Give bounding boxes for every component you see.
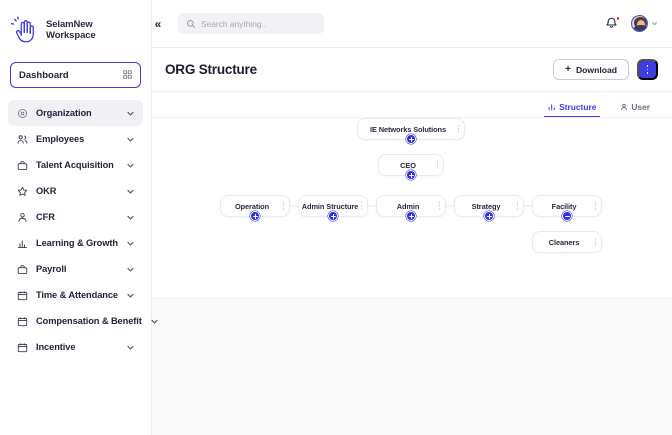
sidebar-label-payroll: Payroll <box>36 264 118 274</box>
chevron-down-icon[interactable] <box>126 109 135 118</box>
download-button-label: Download <box>576 65 617 75</box>
main-area: « <box>152 0 672 435</box>
org-node-ceo[interactable]: CEO <box>378 154 444 176</box>
chevron-down-icon[interactable] <box>651 20 658 27</box>
org-node-expand-badge[interactable] <box>406 170 416 180</box>
bell-icon[interactable] <box>605 16 620 31</box>
briefcase-icon <box>16 159 28 171</box>
org-node-label: CEO <box>392 161 430 170</box>
download-button[interactable]: + Download <box>553 59 629 80</box>
org-chart-canvas[interactable]: IE Networks Solutions CEO Operation <box>152 118 672 298</box>
tab-bar: Structure User <box>152 92 672 118</box>
plus-icon: + <box>565 65 571 75</box>
sidebar-item-payroll[interactable]: Payroll <box>8 256 143 282</box>
dots-vertical-icon[interactable] <box>517 202 518 209</box>
org-node-expand-badge[interactable] <box>406 134 416 144</box>
page-header: ORG Structure + Download <box>152 48 672 92</box>
sidebar-label-okr: OKR <box>36 186 118 196</box>
sidebar-item-employees[interactable]: Employees <box>8 126 143 152</box>
tab-user[interactable]: User <box>616 102 654 117</box>
dots-vertical-icon[interactable] <box>361 202 362 209</box>
plus-icon <box>409 214 414 219</box>
sidebar-label-employees: Employees <box>36 134 118 144</box>
search-icon <box>186 19 196 29</box>
sidebar-item-cfr[interactable]: CFR <box>8 204 143 230</box>
calendar-icon <box>16 315 28 327</box>
dots-vertical-icon[interactable] <box>595 238 596 245</box>
plus-icon <box>487 214 492 219</box>
page-background <box>152 298 672 435</box>
minus-icon <box>565 214 570 219</box>
sidebar-item-dashboard[interactable]: Dashboard <box>10 62 141 88</box>
org-node-root[interactable]: IE Networks Solutions <box>357 118 465 140</box>
plus-icon <box>331 214 336 219</box>
search-input[interactable] <box>201 19 316 29</box>
search-box[interactable] <box>178 13 324 34</box>
tab-structure-label: Structure <box>559 102 596 112</box>
briefcase-icon <box>16 263 28 275</box>
sidebar-item-incentive[interactable]: Incentive <box>8 334 143 360</box>
dashboard-label: Dashboard <box>19 70 69 81</box>
sidebar-label-learning-growth: Learning & Growth <box>36 238 118 248</box>
chevron-down-icon[interactable] <box>126 135 135 144</box>
chevron-down-icon[interactable] <box>126 265 135 274</box>
grid-dashboard-icon <box>123 66 132 84</box>
dots-vertical-icon[interactable] <box>283 202 284 209</box>
sidebar-label-talent-acquisition: Talent Acquisition <box>36 160 118 170</box>
sidebar-item-organization[interactable]: Organization <box>8 100 143 126</box>
sidebar-item-time-attendance[interactable]: Time & Attendance <box>8 282 143 308</box>
org-node-admin-structure[interactable]: Admin Structure <box>298 195 368 217</box>
sidebar-label-cfr: CFR <box>36 212 118 222</box>
bar-chart-icon <box>16 237 28 249</box>
chevron-down-icon[interactable] <box>126 343 135 352</box>
dots-vertical-icon[interactable] <box>595 202 596 209</box>
person-icon <box>620 103 628 111</box>
globe-icon <box>16 107 28 119</box>
org-node-label: Admin <box>389 202 434 211</box>
notification-dot <box>616 16 621 21</box>
avatar[interactable] <box>631 15 648 32</box>
dots-vertical-icon[interactable] <box>437 161 438 168</box>
org-node-collapse-badge[interactable] <box>562 211 572 221</box>
dots-vertical-icon[interactable] <box>439 202 440 209</box>
sidebar-nav: Organization Employees <box>0 100 151 360</box>
sidebar-item-learning-growth[interactable]: Learning & Growth <box>8 230 143 256</box>
brand-name-line1: SelamNew <box>46 19 93 30</box>
org-node-admin[interactable]: Admin <box>376 195 446 217</box>
app-root: SelamNew Workspace Dashboard Organizatio… <box>0 0 672 435</box>
dots-vertical-icon <box>647 65 649 74</box>
person-icon <box>16 211 28 223</box>
tab-structure[interactable]: Structure <box>544 102 600 117</box>
sidebar-label-compensation-benefit: Compensation & Benefit <box>36 316 142 326</box>
chevron-down-icon[interactable] <box>150 317 159 326</box>
org-node-expand-badge[interactable] <box>250 211 260 221</box>
org-node-label: Strategy <box>464 202 515 211</box>
chevron-down-icon[interactable] <box>126 239 135 248</box>
topbar: « <box>152 0 672 48</box>
org-node-facility[interactable]: Facility <box>532 195 602 217</box>
chevron-down-icon[interactable] <box>126 187 135 196</box>
org-node-expand-badge[interactable] <box>328 211 338 221</box>
brand-logo-block[interactable]: SelamNew Workspace <box>0 0 151 58</box>
chevron-down-icon[interactable] <box>126 161 135 170</box>
org-node-expand-badge[interactable] <box>484 211 494 221</box>
sidebar-label-organization: Organization <box>36 108 118 118</box>
org-node-label: IE Networks Solutions <box>362 125 460 134</box>
brand-name-line2: Workspace <box>46 30 96 41</box>
page-title: ORG Structure <box>165 62 257 77</box>
org-node-operation[interactable]: Operation <box>220 195 290 217</box>
dots-vertical-icon[interactable] <box>458 125 459 132</box>
sidebar: SelamNew Workspace Dashboard Organizatio… <box>0 0 152 435</box>
org-node-label: Operation <box>227 202 283 211</box>
calendar-icon <box>16 341 28 353</box>
org-node-expand-badge[interactable] <box>406 211 416 221</box>
chevron-down-icon[interactable] <box>126 291 135 300</box>
sidebar-label-incentive: Incentive <box>36 342 118 352</box>
tab-user-label: User <box>631 102 650 112</box>
more-options-button[interactable] <box>637 59 658 80</box>
sidebar-label-time-attendance: Time & Attendance <box>36 290 118 300</box>
plus-icon <box>409 173 414 178</box>
sidebar-item-okr[interactable]: OKR <box>8 178 143 204</box>
star-icon <box>16 185 28 197</box>
account-menu[interactable] <box>631 15 658 32</box>
plus-icon <box>253 214 258 219</box>
chevron-double-left-icon[interactable]: « <box>146 17 170 31</box>
org-node-label: Facility <box>544 202 591 211</box>
users-icon <box>16 133 28 145</box>
org-node-strategy[interactable]: Strategy <box>454 195 524 217</box>
sidebar-item-compensation-benefit[interactable]: Compensation & Benefit <box>8 308 143 334</box>
org-node-label: Cleaners <box>541 238 593 247</box>
chevron-down-icon[interactable] <box>126 213 135 222</box>
calendar-icon <box>16 289 28 301</box>
sidebar-item-talent-acquisition[interactable]: Talent Acquisition <box>8 152 143 178</box>
brand-name: SelamNew Workspace <box>46 19 96 41</box>
org-node-cleaners[interactable]: Cleaners <box>532 231 602 253</box>
waving-hand-icon <box>10 16 40 44</box>
plus-icon <box>409 137 414 142</box>
hierarchy-icon <box>548 103 556 111</box>
